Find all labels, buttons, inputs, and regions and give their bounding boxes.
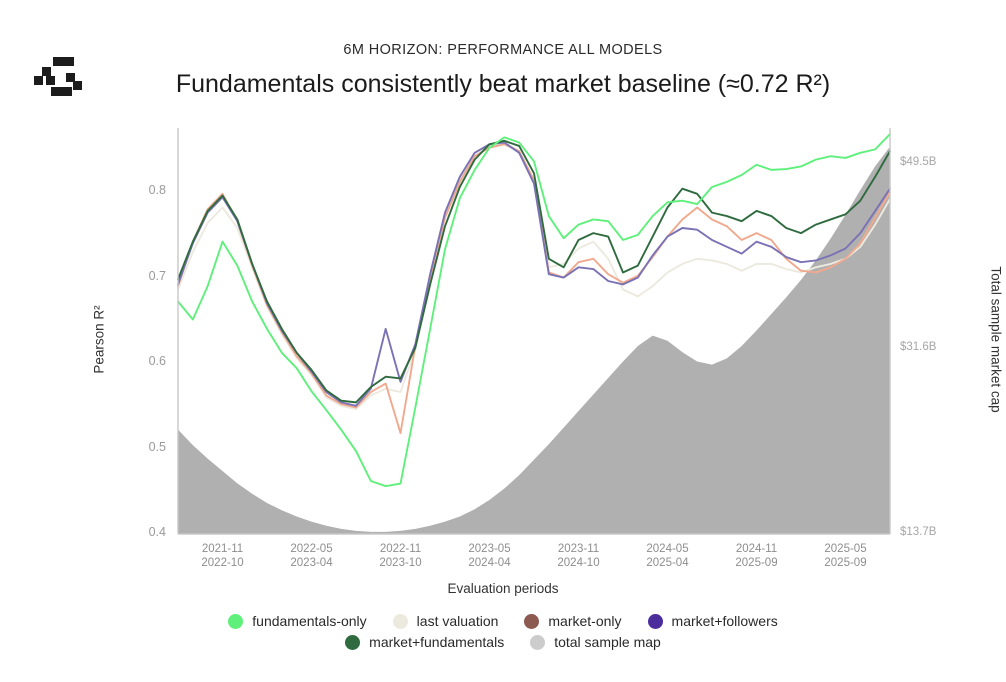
chart-figure: 6M HORIZON: PERFORMANCE ALL MODELS Funda…	[0, 0, 1006, 682]
x-tick-label-line: 2024-05	[623, 542, 713, 556]
x-tick-label: 2022-052023-04	[267, 542, 357, 570]
line-market-only	[178, 144, 890, 433]
x-tick-label: 2023-052024-04	[445, 542, 535, 570]
legend-row: market+fundamentalstotal sample map	[0, 634, 1006, 650]
y-tick-label-right: $13.7B	[900, 526, 970, 538]
x-tick-label-line: 2021-11	[178, 542, 268, 556]
legend-swatch-icon	[393, 614, 408, 629]
legend-label: total sample map	[554, 634, 661, 650]
y-axis-left-title: Pearson R²	[92, 230, 107, 450]
x-tick-label-line: 2025-09	[801, 556, 891, 570]
legend-item-last-valuation[interactable]: last valuation	[393, 613, 499, 629]
legend-swatch-icon	[228, 614, 243, 629]
x-tick-label-line: 2025-05	[801, 542, 891, 556]
x-tick-label: 2023-112024-10	[534, 542, 624, 570]
series-layer	[178, 134, 890, 534]
x-tick-label: 2022-112023-10	[356, 542, 446, 570]
legend-swatch-icon	[648, 614, 663, 629]
legend-swatch-icon	[524, 614, 539, 629]
x-tick-label-line: 2022-11	[356, 542, 446, 556]
x-tick-label: 2025-052025-09	[801, 542, 891, 570]
y-tick-label: 0.6	[106, 354, 166, 368]
x-tick-label-line: 2025-04	[623, 556, 713, 570]
x-tick-label: 2024-112025-09	[712, 542, 802, 570]
chart-kicker: 6M HORIZON: PERFORMANCE ALL MODELS	[0, 42, 1006, 58]
x-tick-label-line: 2022-10	[178, 556, 268, 570]
x-tick-label-line: 2024-11	[712, 542, 802, 556]
line-last-valuation	[178, 143, 890, 410]
y-tick-label: 0.5	[106, 440, 166, 454]
y-tick-label-right: $49.5B	[900, 156, 970, 168]
x-tick-label-line: 2025-09	[712, 556, 802, 570]
area-total-sample-map	[178, 147, 890, 534]
legend-item-market-fundamentals[interactable]: market+fundamentals	[345, 634, 504, 650]
legend-label: market+followers	[672, 613, 778, 629]
x-tick-label-line: 2024-10	[534, 556, 624, 570]
y-tick-label: 0.4	[106, 525, 166, 539]
legend-swatch-icon	[530, 635, 545, 650]
line-market-fundamentals	[178, 141, 890, 403]
line-fundamentals-only	[178, 134, 890, 486]
x-tick-label-line: 2022-05	[267, 542, 357, 556]
legend-label: last valuation	[417, 613, 499, 629]
legend-item-total-sample-map[interactable]: total sample map	[530, 634, 661, 650]
line-market-followers	[178, 143, 890, 406]
x-tick-label-line: 2024-04	[445, 556, 535, 570]
legend-row: fundamentals-onlylast valuationmarket-on…	[0, 613, 1006, 629]
x-tick-label: 2024-052025-04	[623, 542, 713, 570]
y-axis-right-title: Total sample market cap	[989, 200, 1004, 480]
y-tick-label: 0.7	[106, 269, 166, 283]
x-tick-label-line: 2023-10	[356, 556, 446, 570]
x-tick-label-line: 2023-04	[267, 556, 357, 570]
x-tick-label-line: 2023-11	[534, 542, 624, 556]
chart-headline: Fundamentals consistently beat market ba…	[0, 70, 1006, 99]
plot-area	[0, 0, 1006, 682]
axis-spines	[178, 128, 890, 534]
legend-label: market+fundamentals	[369, 634, 504, 650]
legend-label: fundamentals-only	[252, 613, 366, 629]
x-axis-title: Evaluation periods	[0, 581, 1006, 596]
x-tick-label-line: 2023-05	[445, 542, 535, 556]
y-tick-label: 0.8	[106, 183, 166, 197]
legend-label: market-only	[548, 613, 621, 629]
legend-item-market-followers[interactable]: market+followers	[648, 613, 778, 629]
legend-item-market-only[interactable]: market-only	[524, 613, 621, 629]
x-tick-label: 2021-112022-10	[178, 542, 268, 570]
legend-swatch-icon	[345, 635, 360, 650]
legend-item-fundamentals-only[interactable]: fundamentals-only	[228, 613, 366, 629]
chart-legend: fundamentals-onlylast valuationmarket-on…	[0, 613, 1006, 655]
y-tick-label-right: $31.6B	[900, 341, 970, 353]
